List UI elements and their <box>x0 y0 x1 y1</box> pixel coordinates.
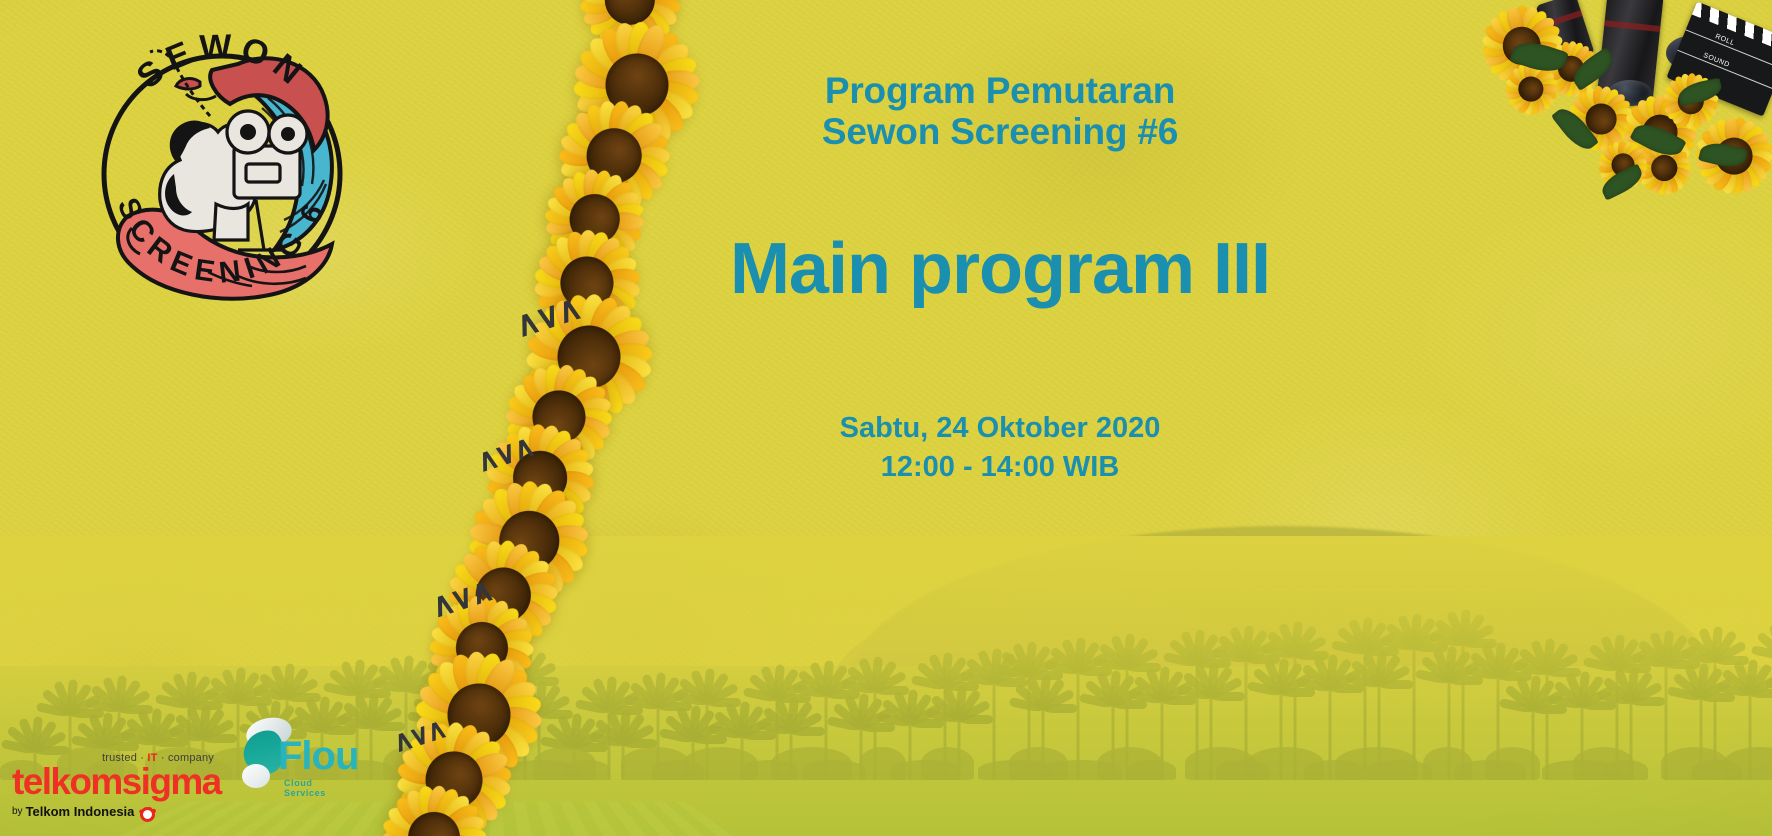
event-date: Sabtu, 24 Oktober 2020 <box>840 412 1161 444</box>
palm-tree <box>1260 637 1330 780</box>
shrub <box>502 760 582 780</box>
palm-tree <box>1176 678 1246 780</box>
shrub <box>921 747 974 780</box>
palm-tree <box>1127 682 1197 780</box>
sewon-screening-logo: SEWON SCREENING 6 <box>88 4 356 334</box>
flou-logo: Flou Cloud Services <box>232 716 348 822</box>
lens-glass-icon <box>1608 80 1652 106</box>
sunflower-icon <box>1680 102 1772 210</box>
palm-tree <box>1295 670 1365 780</box>
leaf-icon <box>1509 36 1568 77</box>
sunflower-icon <box>373 609 585 821</box>
shrub <box>1247 747 1324 780</box>
palm-tree <box>672 684 742 780</box>
palm-tree <box>658 721 728 780</box>
telkomsigma-wordmark: telkomsigma <box>12 764 218 799</box>
camera-lens-icon <box>1596 0 1663 107</box>
shrub <box>802 760 866 780</box>
palm-tree <box>994 657 1064 780</box>
palm-tree <box>1211 641 1281 780</box>
camera-sunflower-cluster: ROLL SOUND <box>1482 0 1772 190</box>
shrub <box>1661 747 1728 780</box>
shrub <box>445 747 502 780</box>
poster-copy: Program Pemutaran Sewon Screening #6 Mai… <box>620 70 1380 487</box>
sunflower-icon <box>349 753 519 836</box>
palm-tree <box>756 713 826 780</box>
sunflower-icon <box>434 446 624 636</box>
shrub <box>683 747 758 780</box>
flou-subtitle: Cloud Services <box>284 778 348 798</box>
palm-tree <box>1344 666 1414 780</box>
shrub <box>1542 760 1620 780</box>
palm-tree <box>1330 633 1400 780</box>
sunflower-icon <box>570 0 690 60</box>
sponsor-logos: trusted · IT · company telkomsigma by Te… <box>12 716 348 822</box>
shrub <box>771 747 852 780</box>
palm-tree <box>504 696 574 780</box>
lens-glass-icon <box>1666 36 1714 70</box>
leaf-icon <box>1598 163 1646 200</box>
palm-tree <box>623 688 693 780</box>
palm-tree <box>959 664 1029 780</box>
palm-tree <box>1463 658 1533 780</box>
shrub <box>1485 747 1540 780</box>
zigzag-accent: ∧∨∧ <box>427 573 495 622</box>
palm-tree <box>742 680 812 780</box>
palm-tree <box>840 672 910 780</box>
palm-tree <box>574 692 644 780</box>
shrub <box>652 760 704 780</box>
shrub <box>1723 747 1772 780</box>
byline-pre: by <box>12 806 23 817</box>
telkomsigma-logo: trusted · IT · company telkomsigma by Te… <box>12 752 218 822</box>
telkomsigma-byline: by Telkom Indonesia <box>12 801 218 822</box>
palm-tree <box>875 705 945 780</box>
palm-tree <box>371 671 441 780</box>
palm-tree <box>1092 649 1162 780</box>
shrub <box>1304 760 1364 780</box>
palm-tree <box>1078 686 1148 780</box>
mountain-silhouette-secondary <box>832 591 1252 686</box>
sunflower-icon <box>1493 51 1570 128</box>
leaf-icon <box>1551 103 1599 156</box>
palm-tree <box>1043 653 1113 780</box>
palm-tree <box>826 709 896 780</box>
palm-tree <box>1008 690 1078 780</box>
shrub <box>1128 760 1176 780</box>
sunflower-icon <box>379 705 528 836</box>
sunflower-icon <box>1474 0 1570 94</box>
shrub <box>1009 747 1068 780</box>
palm-tree <box>1547 687 1617 780</box>
sunflower-icon <box>1584 126 1662 204</box>
shrub <box>564 760 610 780</box>
byline-text: Telkom Indonesia <box>26 804 135 819</box>
shrub <box>1454 760 1526 780</box>
palm-tree <box>539 729 609 780</box>
palm-tree <box>707 717 777 780</box>
clapperboard-label-roll: ROLL <box>1714 33 1735 47</box>
sunflower-icon <box>465 403 615 553</box>
shrub <box>859 747 906 780</box>
mountain-silhouette <box>848 526 1716 686</box>
palm-tree <box>1715 675 1772 780</box>
palm-tree <box>1680 642 1750 780</box>
sunflower-icon <box>416 508 591 683</box>
palm-tree <box>791 676 861 780</box>
zigzag-accent: ∧∨∧ <box>473 432 536 478</box>
palm-tree <box>1512 654 1582 780</box>
palm-tree <box>1666 679 1736 780</box>
sunflower-icon <box>1525 23 1617 115</box>
palm-tree <box>1428 625 1498 780</box>
sunflower-icon <box>1551 69 1652 170</box>
palm-tree <box>1246 674 1316 780</box>
zigzag-accent: ∧∨∧ <box>510 291 583 344</box>
palm-tree <box>1162 645 1232 780</box>
kicker-line-2: Sewon Screening #6 <box>620 111 1380 152</box>
shrub <box>621 747 690 780</box>
shrub <box>414 760 488 780</box>
shrub <box>1423 747 1472 780</box>
palm-tree <box>1596 683 1666 780</box>
poster-canvas: SEWON SCREENING 6 ∧∨∧∧∨∧∧∨∧∧∨∧ ROLL SOUN… <box>0 0 1772 836</box>
palm-tree <box>1750 638 1772 780</box>
shrub <box>533 747 596 780</box>
shrub <box>1604 760 1648 780</box>
shrub <box>1335 747 1418 780</box>
sunflower-icon <box>1655 65 1727 137</box>
shrub <box>383 747 434 780</box>
shrub <box>1216 760 1270 780</box>
palm-tree <box>490 663 560 780</box>
sunflower-icon <box>1619 123 1709 213</box>
palm-tree <box>1764 671 1772 780</box>
page-title: Main program III <box>620 233 1380 305</box>
shrub <box>1040 760 1122 780</box>
clapperboard-label-sound: SOUND <box>1702 52 1730 69</box>
palm-tree <box>1498 691 1568 780</box>
palm-tree <box>406 704 476 780</box>
zigzag-accent: ∧∨∧ <box>389 715 448 758</box>
sunflower-icon <box>410 576 554 720</box>
palm-tree <box>910 668 980 780</box>
camera-lens-icon <box>1535 0 1595 67</box>
palm-tree <box>1379 629 1449 780</box>
shrub <box>890 760 960 780</box>
shrub <box>1366 760 1432 780</box>
leaf-icon <box>1698 139 1748 171</box>
shrub <box>1573 747 1634 780</box>
palm-tree <box>1414 662 1484 780</box>
palm-tree <box>455 700 525 780</box>
palm-tree <box>588 725 658 780</box>
palm-tree <box>1582 650 1652 780</box>
event-time: 12:00 - 14:00 WIB <box>620 448 1380 487</box>
kicker: Program Pemutaran Sewon Screening #6 <box>620 70 1380 153</box>
palm-tree <box>1631 646 1701 780</box>
leaf-icon <box>1676 78 1723 107</box>
palm-tree <box>420 667 490 780</box>
schedule: Sabtu, 24 Oktober 2020 12:00 - 14:00 WIB <box>620 409 1380 487</box>
clapperboard-icon: ROLL SOUND <box>1666 2 1772 117</box>
shrub <box>978 760 1054 780</box>
shrub <box>1185 747 1256 780</box>
shrub <box>740 760 798 780</box>
leaf-icon <box>1629 117 1686 163</box>
kicker-line-1: Program Pemutaran <box>825 70 1175 111</box>
palm-tree <box>924 701 994 780</box>
sunflower-icon <box>1599 71 1720 192</box>
telkom-hand-icon <box>137 801 158 822</box>
flou-wordmark: Flou <box>278 734 358 779</box>
leaf-icon <box>1568 47 1618 91</box>
shrub <box>1692 760 1742 780</box>
shrub <box>1097 747 1162 780</box>
